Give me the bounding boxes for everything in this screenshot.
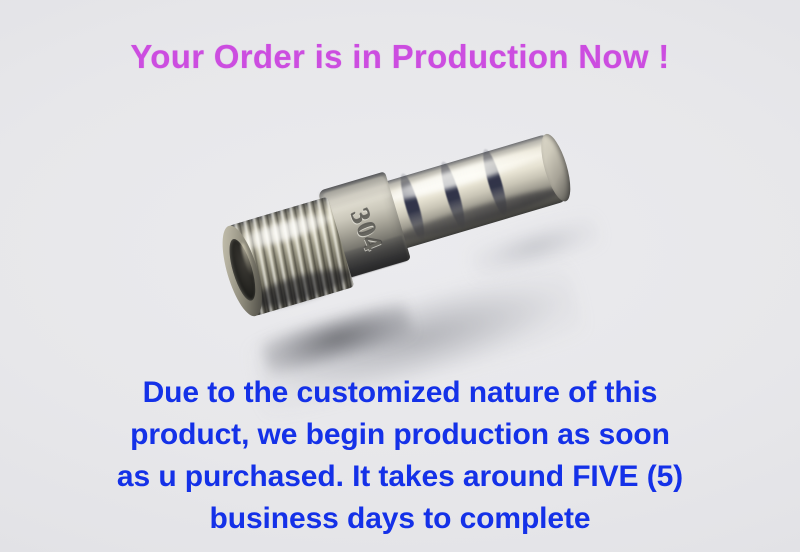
male-npt-threaded-end <box>224 197 354 318</box>
material-grade-stamp: 304 <box>331 198 401 261</box>
thread-shadow-band <box>245 262 353 315</box>
bore-rim <box>214 222 269 321</box>
bore-opening <box>224 236 260 303</box>
barb-end-cap <box>535 131 576 204</box>
notice-line-2: product, we begin production as soon <box>0 414 800 456</box>
hex-bottom-facet <box>338 235 409 279</box>
hex-nut-body <box>318 171 411 279</box>
barbed-hose-tail <box>372 133 568 252</box>
production-notice-text: Due to the customized nature of this pro… <box>0 372 800 540</box>
page-title: Your Order is in Production Now ! <box>0 38 800 76</box>
notice-line-1: Due to the customized nature of this <box>0 372 800 414</box>
barb-groove-3 <box>479 147 511 218</box>
barb-specular-highlight <box>376 141 553 208</box>
thread-ribs <box>224 197 354 318</box>
hex-left-edge-highlight <box>316 191 350 280</box>
barb-groove-2 <box>437 160 469 231</box>
bore-inner-glint <box>239 242 254 276</box>
notice-line-3: as u purchased. It takes around FIVE (5) <box>0 456 800 498</box>
product-contact-shadow <box>259 298 414 378</box>
promo-image-canvas: Your Order is in Production Now ! 304 <box>0 0 800 552</box>
barb-shadow-band <box>388 181 567 248</box>
hose-barb-fitting: 304 <box>217 126 584 333</box>
hex-top-facet <box>321 176 391 216</box>
barb-groove-1 <box>396 172 428 243</box>
product-tail-shadow <box>468 213 602 282</box>
thread-specular-highlight <box>229 209 334 256</box>
notice-line-4: business days to complete <box>0 498 800 540</box>
